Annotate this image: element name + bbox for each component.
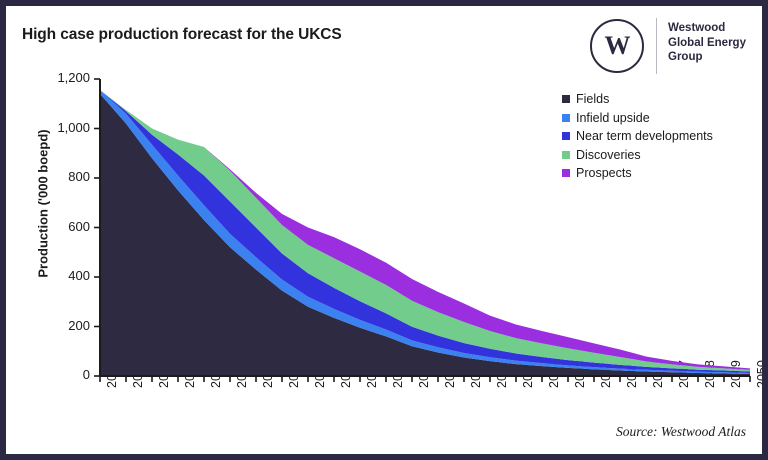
chart-card: High case production forecast for the UK… (6, 6, 762, 454)
stacked-area-chart (6, 6, 762, 454)
chart-plot-area: Production ('000 boepd) 02004006008001,0… (6, 6, 762, 454)
source-note: Source: Westwood Atlas (616, 424, 746, 440)
